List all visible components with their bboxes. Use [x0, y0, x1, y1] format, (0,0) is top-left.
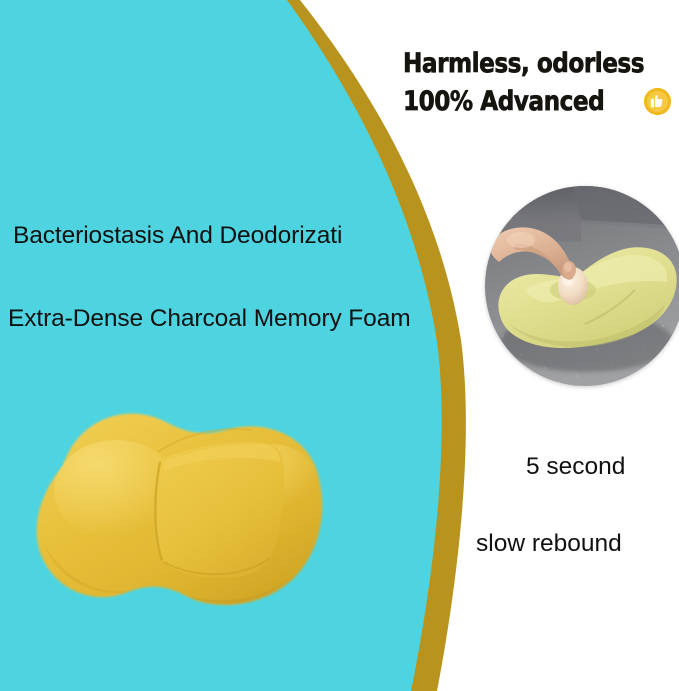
headline-row-1: Harmless, odorless	[403, 44, 679, 82]
feature-text-bacteriostasis: Bacteriostasis And Deodorizati	[13, 222, 342, 250]
main-photo-neck-pillow	[8, 392, 358, 642]
caption-5-second: 5 second	[526, 453, 625, 481]
product-banner: Harmless, odorless 100% Advanced Bacteri…	[0, 0, 679, 691]
headline-block: Harmless, odorless 100% Advanced	[403, 44, 679, 120]
headline-row-2: 100% Advanced	[403, 82, 679, 120]
headline-line-1: Harmless, odorless	[403, 48, 644, 79]
thumbs-up-icon	[643, 87, 672, 116]
headline-line-2: 100% Advanced	[403, 86, 604, 117]
inset-photo-egg-press	[485, 186, 679, 386]
feature-text-charcoal-foam: Extra-Dense Charcoal Memory Foam	[8, 305, 411, 333]
caption-slow-rebound: slow rebound	[476, 530, 622, 558]
